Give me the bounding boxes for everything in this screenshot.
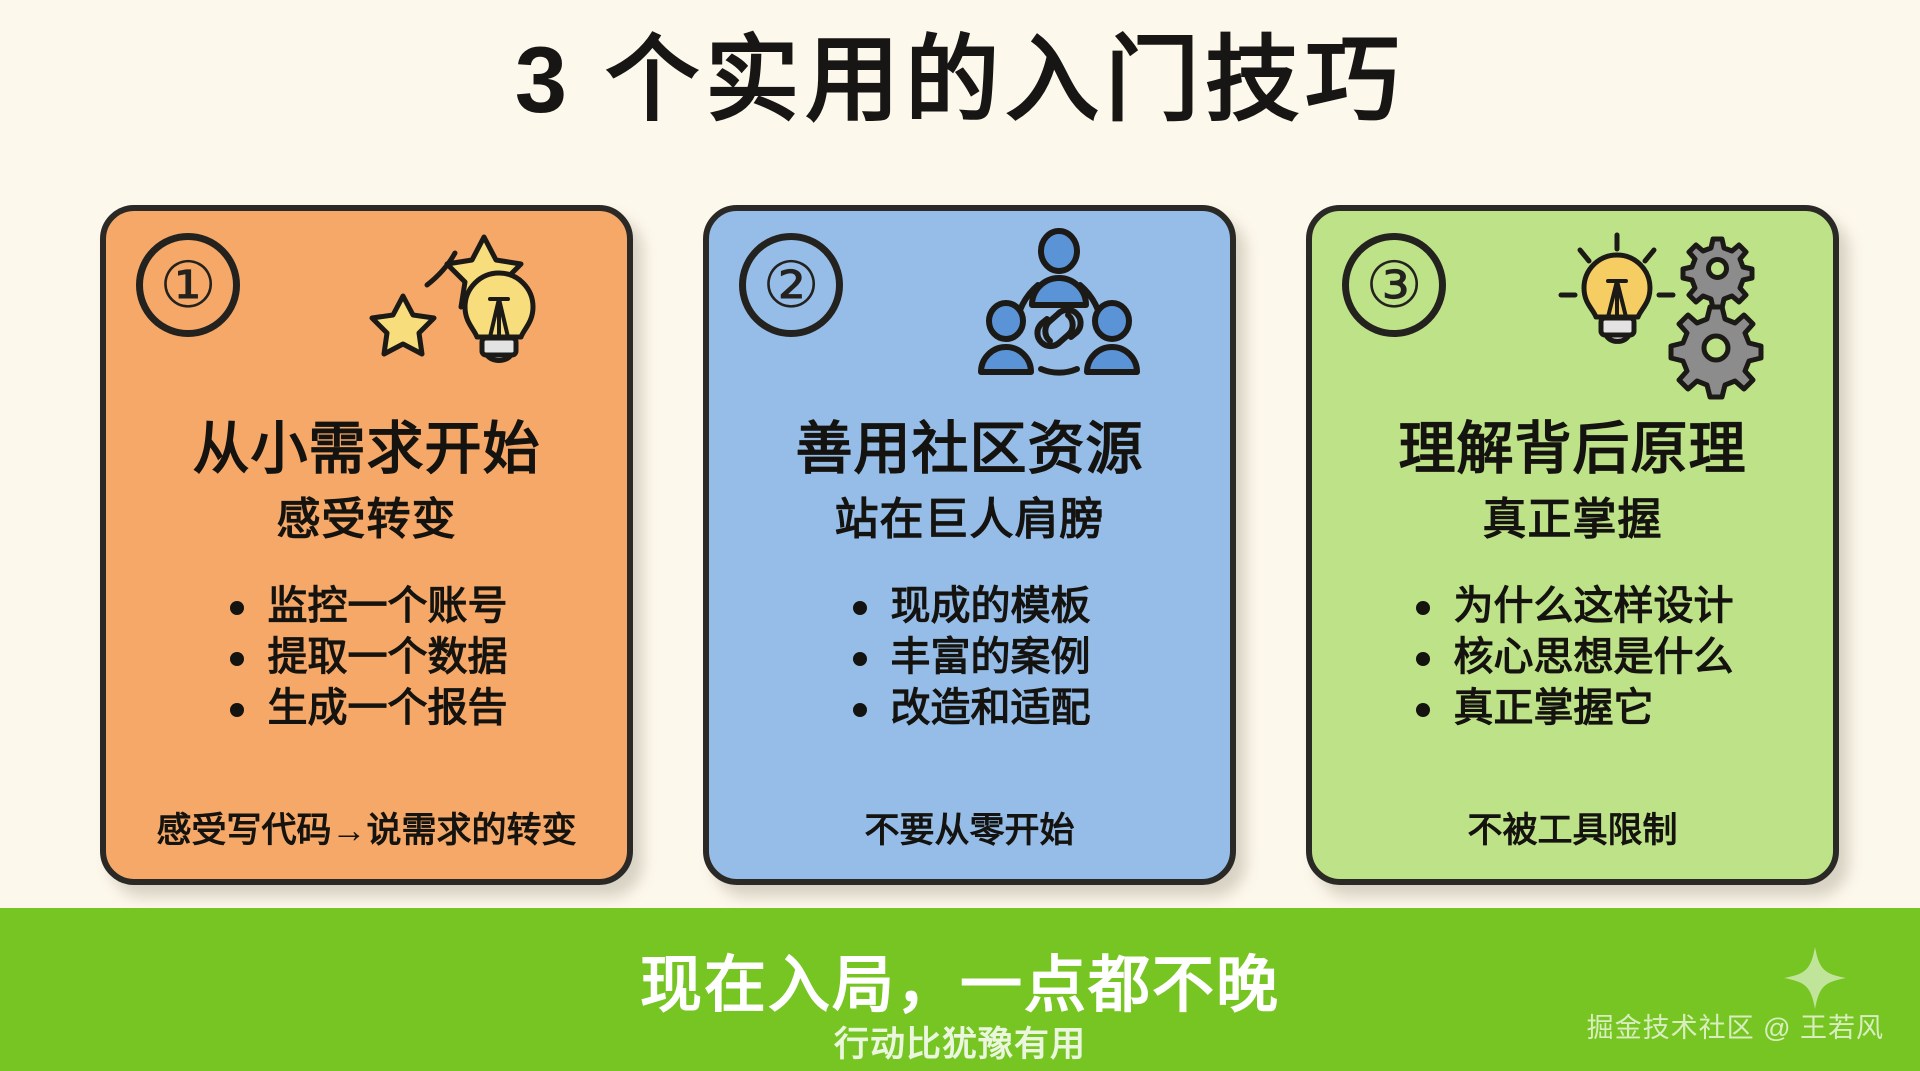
card-title: 从小需求开始	[193, 420, 541, 480]
tip-card-3[interactable]: ③	[1306, 205, 1839, 885]
card-subtitle: 站在巨人肩膀	[835, 492, 1105, 547]
card-title: 善用社区资源	[796, 420, 1144, 480]
list-item: 监控一个账号	[226, 581, 508, 632]
step-number-badge: ③	[1342, 233, 1446, 337]
card-header: ①	[106, 211, 627, 416]
lightbulb-stars-icon	[341, 223, 571, 408]
list-item: 改造和适配	[849, 683, 1091, 734]
page-title: 3 个实用的入门技巧	[0, 26, 1920, 134]
step-number-badge: ①	[136, 233, 240, 337]
list-item: 现成的模板	[849, 581, 1091, 632]
card-subtitle: 真正掌握	[1483, 492, 1663, 547]
card-header: ③	[1312, 211, 1833, 416]
card-title: 理解背后原理	[1399, 420, 1747, 480]
list-item: 提取一个数据	[226, 632, 508, 683]
call-to-action-banner: 现在入局，一点都不晚 行动比犹豫有用 掘金技术社区 @ 王若风	[0, 908, 1920, 1071]
card-footer: 感受写代码→说需求的转变	[106, 802, 627, 853]
community-network-icon	[944, 223, 1174, 408]
step-number-badge: ②	[739, 233, 843, 337]
card-bullet-list: 监控一个账号 提取一个数据 生成一个报告	[226, 581, 508, 735]
card-subtitle: 感受转变	[277, 492, 457, 547]
tip-card-2[interactable]: ②	[703, 205, 1236, 885]
sparkle-icon	[1784, 947, 1846, 1009]
card-header: ②	[709, 211, 1230, 416]
tip-card-1[interactable]: ① 从小需求开始 感受转	[100, 205, 633, 885]
card-bullet-list: 现成的模板 丰富的案例 改造和适配	[849, 581, 1091, 735]
list-item: 生成一个报告	[226, 683, 508, 734]
list-item: 真正掌握它	[1412, 683, 1734, 734]
list-item: 核心思想是什么	[1412, 632, 1734, 683]
card-footer: 不要从零开始	[709, 802, 1230, 853]
card-bullet-list: 为什么这样设计 核心思想是什么 真正掌握它	[1412, 581, 1734, 735]
list-item: 为什么这样设计	[1412, 581, 1734, 632]
lightbulb-gears-icon	[1547, 223, 1777, 408]
list-item: 丰富的案例	[849, 632, 1091, 683]
watermark-credit: 掘金技术社区 @ 王若风	[1587, 1006, 1884, 1045]
card-footer: 不被工具限制	[1312, 802, 1833, 853]
tips-card-row: ① 从小需求开始 感受转	[100, 205, 1840, 885]
